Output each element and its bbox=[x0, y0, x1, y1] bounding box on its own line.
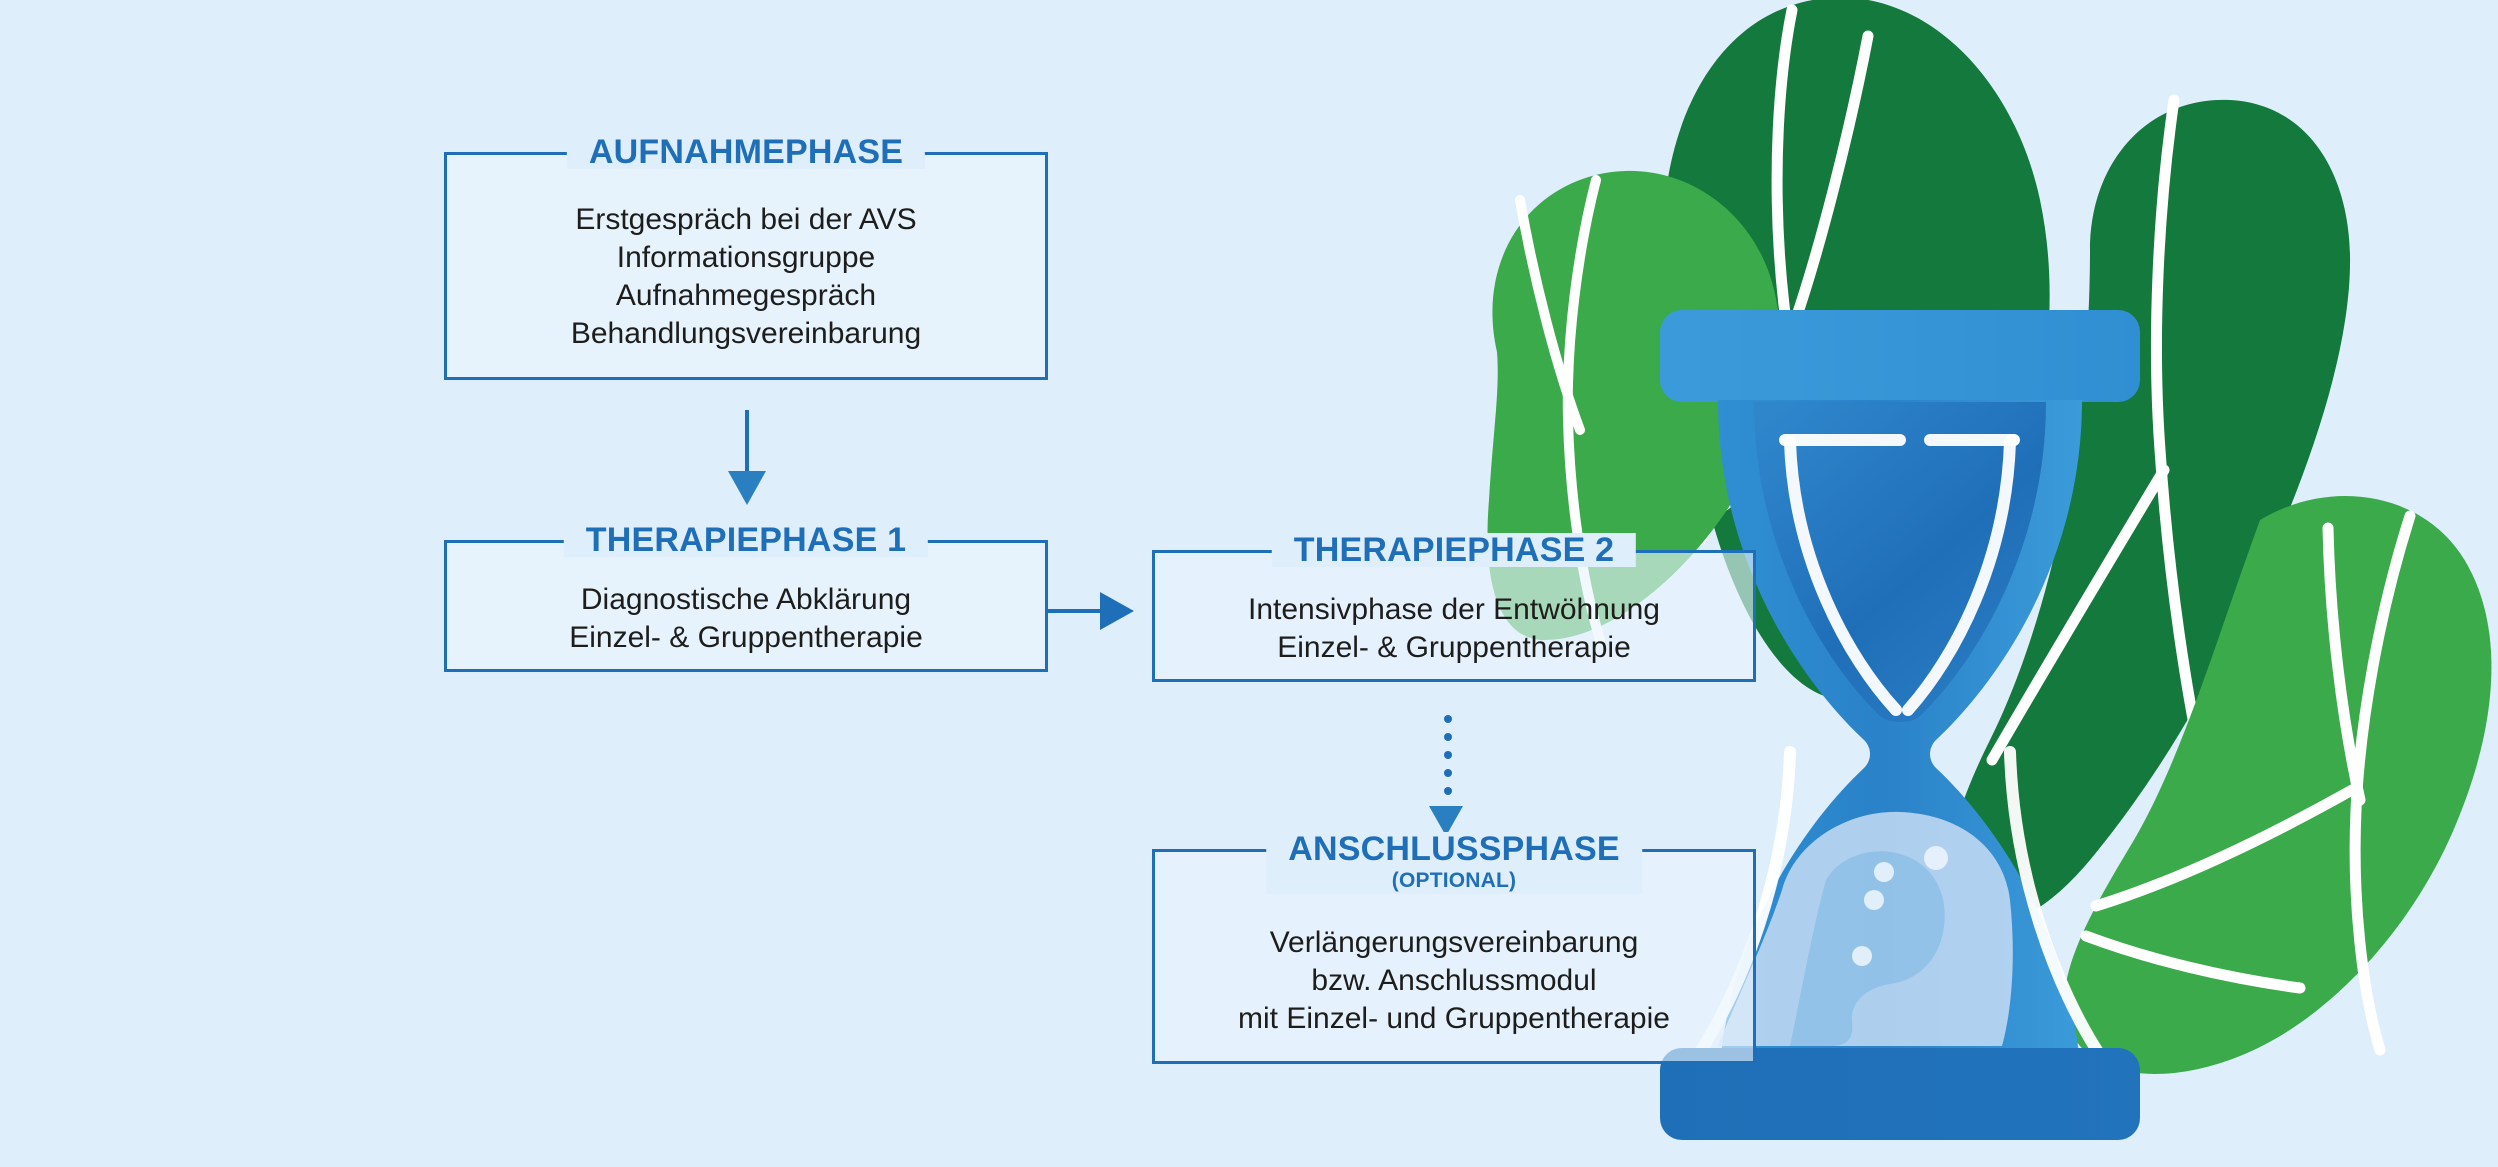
phase-body-therapiephase-1: Diagnostische Abklärung Einzel- & Gruppe… bbox=[447, 581, 1045, 657]
connector-therapie1-to-therapie2-arrowhead bbox=[1100, 592, 1134, 630]
phase-box-therapiephase-1[interactable]: Diagnostische Abklärung Einzel- & Gruppe… bbox=[444, 540, 1048, 672]
phase-line: bzw. Anschlussmodul bbox=[1155, 962, 1753, 1000]
phase-line: Einzel- & Gruppentherapie bbox=[1155, 629, 1753, 667]
phase-title-therapiephase-1: THERAPIEPHASE 1 bbox=[564, 523, 928, 557]
phase-line: Intensivphase der Entwöhnung bbox=[1155, 591, 1753, 629]
phase-box-aufnahmephase[interactable]: Erstgespräch bei der AVS Informationsgru… bbox=[444, 152, 1048, 380]
connector-aufnahme-to-therapie1-arrowhead bbox=[728, 471, 766, 505]
connector-dot bbox=[1444, 715, 1452, 723]
phase-line: Aufnahmegespräch bbox=[447, 277, 1045, 315]
phase-line: Einzel- & Gruppentherapie bbox=[447, 619, 1045, 657]
connector-therapie1-to-therapie2-line bbox=[1046, 609, 1106, 613]
phase-body-therapiephase-2: Intensivphase der Entwöhnung Einzel- & G… bbox=[1155, 591, 1753, 667]
phase-line: Verlängerungsvereinbarung bbox=[1155, 924, 1753, 962]
phase-body-anschlussphase: Verlängerungsvereinbarung bzw. Anschluss… bbox=[1155, 924, 1753, 1038]
phase-body-aufnahmephase: Erstgespräch bei der AVS Informationsgru… bbox=[447, 201, 1045, 353]
phase-title-aufnahmephase: AUFNAHMEPHASE bbox=[567, 135, 925, 169]
connector-aufnahme-to-therapie1-line bbox=[745, 410, 749, 478]
connector-therapie2-to-anschluss-dots bbox=[1444, 715, 1452, 805]
phase-title-text: AUFNAHMEPHASE bbox=[589, 133, 903, 171]
phase-title-anschlussphase: ANSCHLUSSPHASE (OPTIONAL) bbox=[1266, 832, 1642, 894]
infographic-canvas: Erstgespräch bei der AVS Informationsgru… bbox=[0, 0, 2498, 1167]
phase-title-text: ANSCHLUSSPHASE bbox=[1288, 830, 1620, 868]
phase-title-therapiephase-2: THERAPIEPHASE 2 bbox=[1272, 533, 1636, 567]
phase-line: Behandlungsvereinbarung bbox=[447, 315, 1045, 353]
phase-line: Informationsgruppe bbox=[447, 239, 1045, 277]
phase-box-therapiephase-2[interactable]: Intensivphase der Entwöhnung Einzel- & G… bbox=[1152, 550, 1756, 682]
phase-title-text: THERAPIEPHASE 2 bbox=[1294, 531, 1614, 569]
phase-subtitle-text: (OPTIONAL) bbox=[1288, 868, 1620, 894]
phase-title-text: THERAPIEPHASE 1 bbox=[586, 521, 906, 559]
phase-line: Erstgespräch bei der AVS bbox=[447, 201, 1045, 239]
connector-dot bbox=[1444, 733, 1452, 741]
phase-line: mit Einzel- und Gruppentherapie bbox=[1155, 1000, 1753, 1038]
connector-dot bbox=[1444, 769, 1452, 777]
phase-line: Diagnostische Abklärung bbox=[447, 581, 1045, 619]
connector-dot bbox=[1444, 751, 1452, 759]
connector-dot bbox=[1444, 787, 1452, 795]
